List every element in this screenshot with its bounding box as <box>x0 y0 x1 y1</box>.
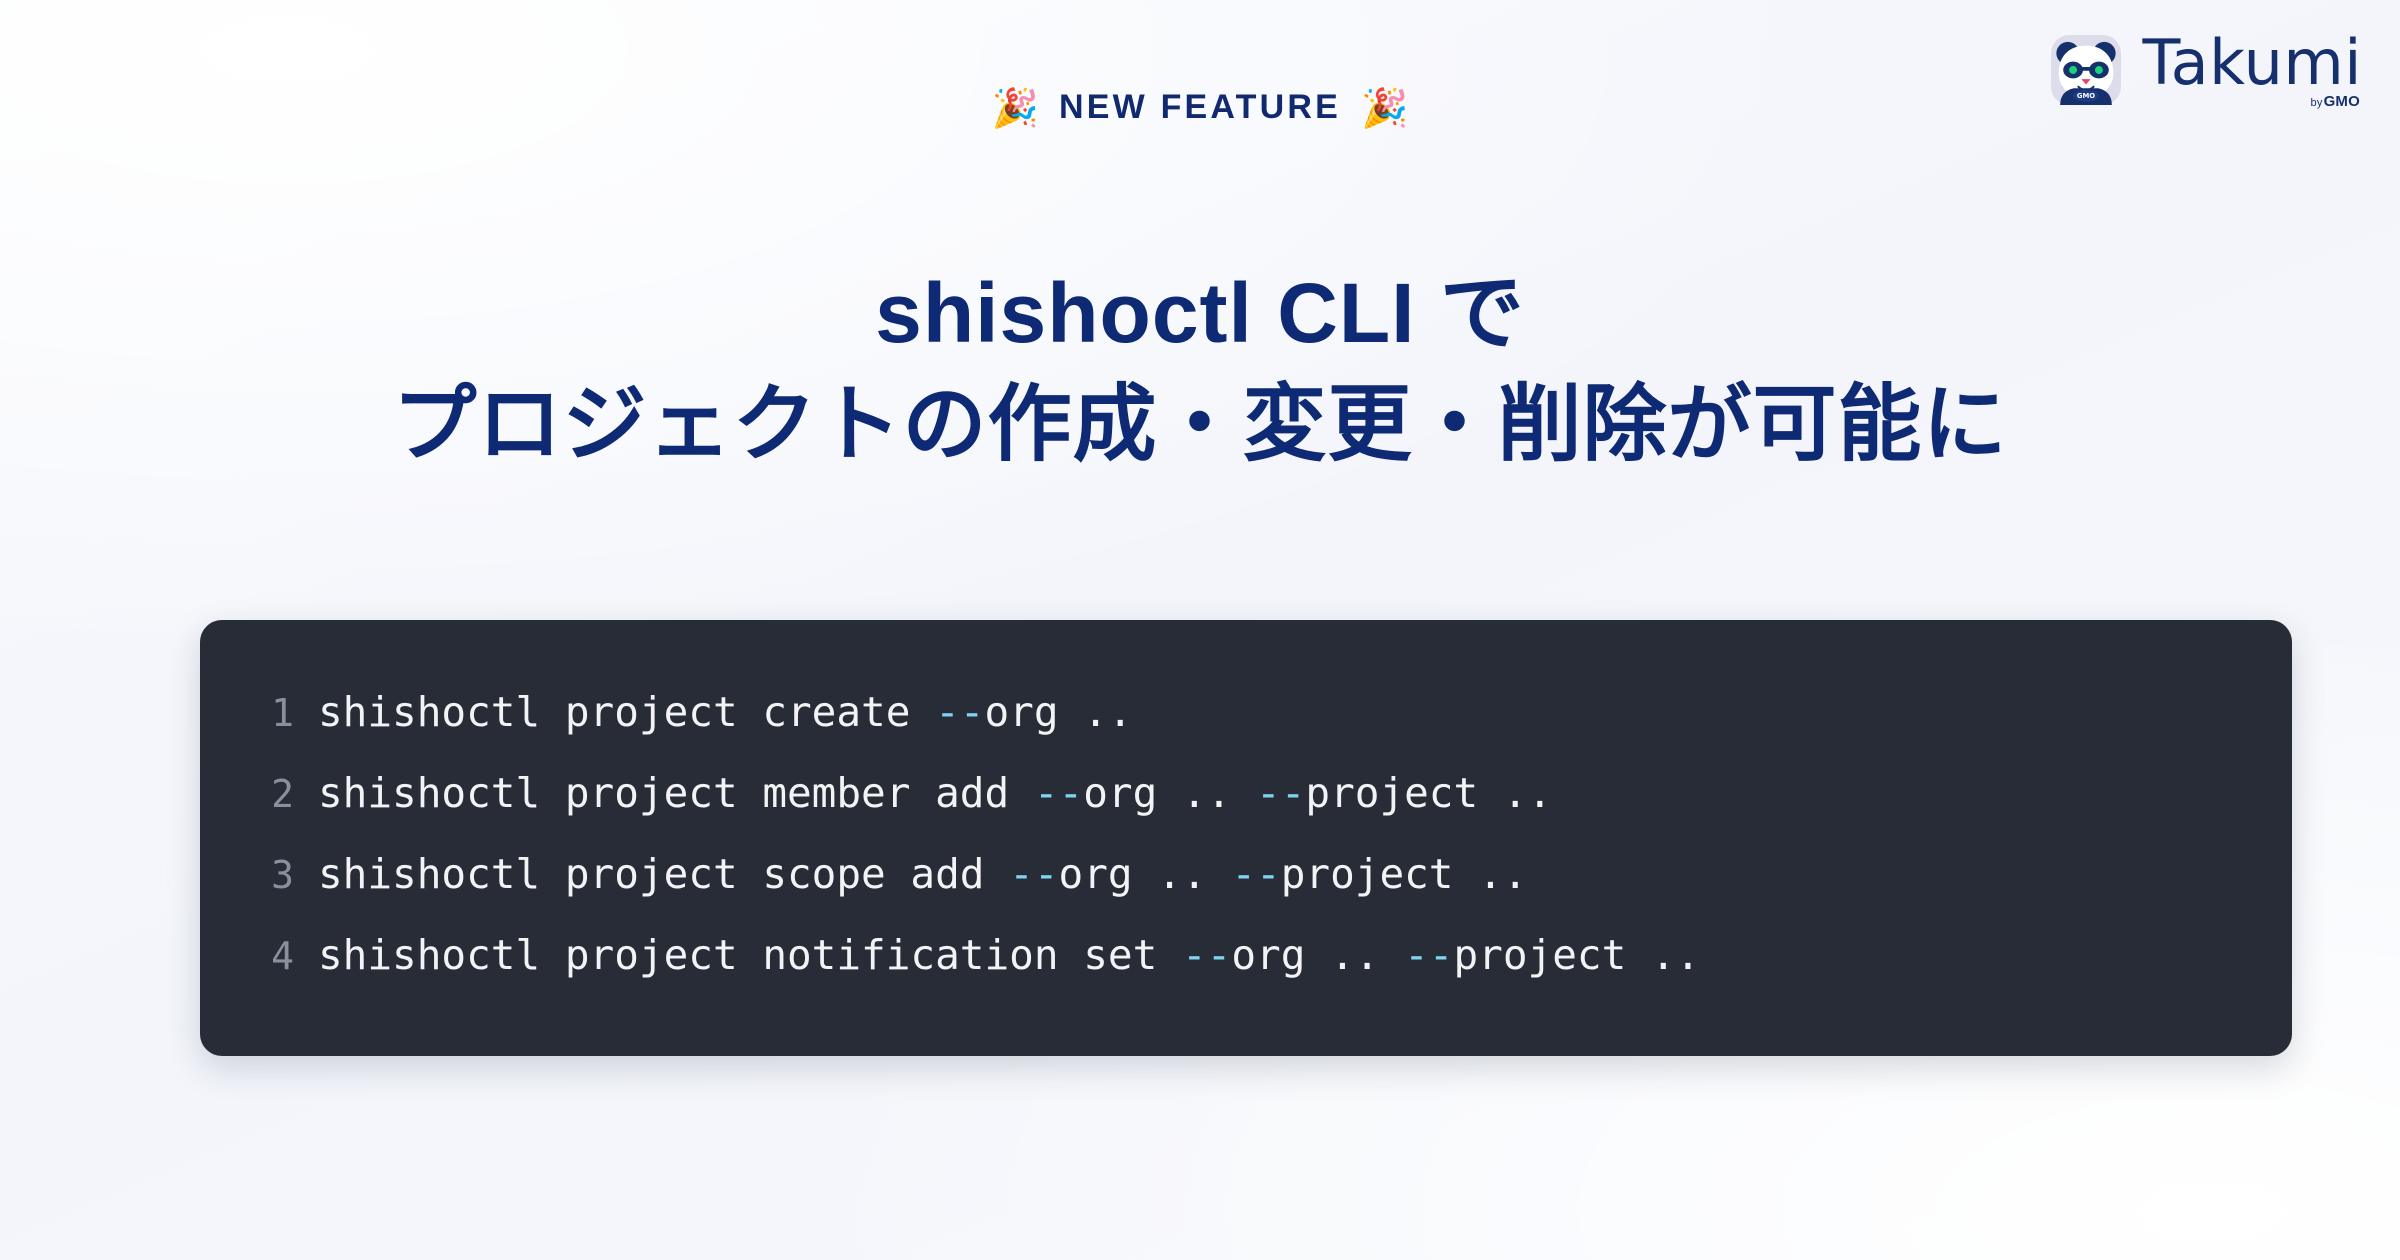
code-token: shishoctl project member add <box>318 769 1034 817</box>
code-block: 1shishoctl project create --org ..2shish… <box>200 620 2292 1056</box>
code-line-number: 2 <box>200 754 318 834</box>
code-flag-dashes: -- <box>1404 931 1453 979</box>
code-line-content: shishoctl project scope add --org .. --p… <box>318 834 1528 914</box>
code-line-content: shishoctl project create --org .. <box>318 672 1133 752</box>
code-flag-dashes: -- <box>1034 769 1083 817</box>
party-popper-icon-left: 🎉 <box>992 89 1039 127</box>
code-token: project .. <box>1305 769 1552 817</box>
code-token: org .. <box>1059 850 1232 898</box>
code-token: shishoctl project scope add <box>318 850 1009 898</box>
code-line-content: shishoctl project notification set --org… <box>318 915 1700 995</box>
headline-line-2: プロジェクトの作成・変更・削除が可能に <box>0 369 2400 480</box>
headline-line-1: shishoctl CLI で <box>0 258 2400 369</box>
code-line-number: 4 <box>200 916 318 996</box>
code-token: project .. <box>1454 931 1701 979</box>
new-feature-label: NEW FEATURE <box>1059 88 1341 127</box>
code-token: shishoctl project notification set <box>318 931 1182 979</box>
code-token: org .. <box>1231 931 1404 979</box>
code-flag-dashes: -- <box>1182 931 1231 979</box>
party-popper-icon-right: 🎉 <box>1361 89 1408 127</box>
code-token: project .. <box>1281 850 1528 898</box>
code-token: org .. <box>984 688 1132 736</box>
page-title: shishoctl CLI で プロジェクトの作成・変更・削除が可能に <box>0 258 2400 480</box>
code-line-number: 3 <box>200 835 318 915</box>
code-token: org .. <box>1083 769 1256 817</box>
code-line: 2shishoctl project member add --org .. -… <box>200 753 2292 834</box>
new-feature-banner: 🎉 NEW FEATURE 🎉 <box>0 88 2400 127</box>
announcement-card: GMO Takumi byGMO 🎉 NEW FEATURE 🎉 shishoc… <box>0 0 2400 1260</box>
code-flag-dashes: -- <box>1009 850 1058 898</box>
logo-wordmark: Takumi byGMO <box>2142 32 2362 93</box>
code-token: shishoctl project create <box>318 688 935 736</box>
code-line: 1shishoctl project create --org .. <box>200 672 2292 753</box>
code-line: 3shishoctl project scope add --org .. --… <box>200 834 2292 915</box>
code-flag-dashes: -- <box>1256 769 1305 817</box>
code-flag-dashes: -- <box>935 688 984 736</box>
code-flag-dashes: -- <box>1231 850 1280 898</box>
code-line-number: 1 <box>200 673 318 753</box>
code-line: 4shishoctl project notification set --or… <box>200 915 2292 996</box>
code-line-content: shishoctl project member add --org .. --… <box>318 753 1552 833</box>
